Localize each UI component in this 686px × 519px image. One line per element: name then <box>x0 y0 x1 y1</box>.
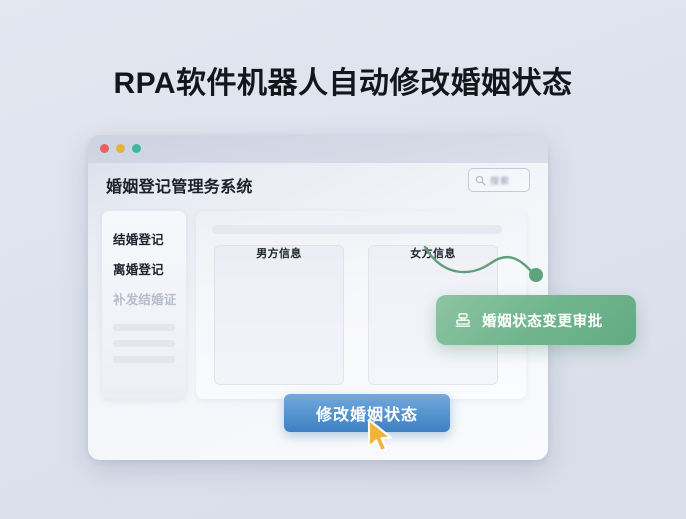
app-header: 婚姻登记管理务系统 搜索 <box>88 163 548 205</box>
modify-marital-status-button[interactable]: 修改婚姻状态 <box>284 394 450 432</box>
minimize-button-dot[interactable] <box>116 144 125 153</box>
sidebar-placeholder-row <box>113 324 175 331</box>
sidebar-placeholder-row <box>113 356 175 363</box>
sidebar-item-reissue-certificate[interactable]: 补发结婚证 <box>102 285 186 315</box>
search-label: 搜索 <box>490 174 510 187</box>
male-info-column <box>214 245 344 385</box>
maximize-button-dot[interactable] <box>132 144 141 153</box>
approval-badge-label: 婚姻状态变更审批 <box>482 310 603 331</box>
window-titlebar <box>88 135 548 163</box>
search-icon <box>475 175 486 186</box>
app-window: 婚姻登记管理务系统 搜索 结婚登记 离婚登记 补发结婚证 男方信息 女方信息 <box>88 135 548 460</box>
male-info-label: 男方信息 <box>214 245 344 261</box>
sidebar-item-divorce-registration[interactable]: 离婚登记 <box>102 255 186 285</box>
traffic-lights <box>100 144 141 153</box>
female-info-label: 女方信息 <box>368 245 498 261</box>
sidebar: 结婚登记 离婚登记 补发结婚证 <box>102 211 186 399</box>
page-title: RPA软件机器人自动修改婚姻状态 <box>0 58 686 102</box>
search-box[interactable]: 搜索 <box>468 168 530 192</box>
stamp-icon <box>453 310 473 330</box>
panel-placeholder-bar <box>212 225 502 234</box>
approval-badge[interactable]: 婚姻状态变更审批 <box>436 295 636 345</box>
close-button-dot[interactable] <box>100 144 109 153</box>
sidebar-placeholder-row <box>113 340 175 347</box>
app-title: 婚姻登记管理务系统 <box>106 173 253 197</box>
sidebar-item-marriage-registration[interactable]: 结婚登记 <box>102 225 186 255</box>
